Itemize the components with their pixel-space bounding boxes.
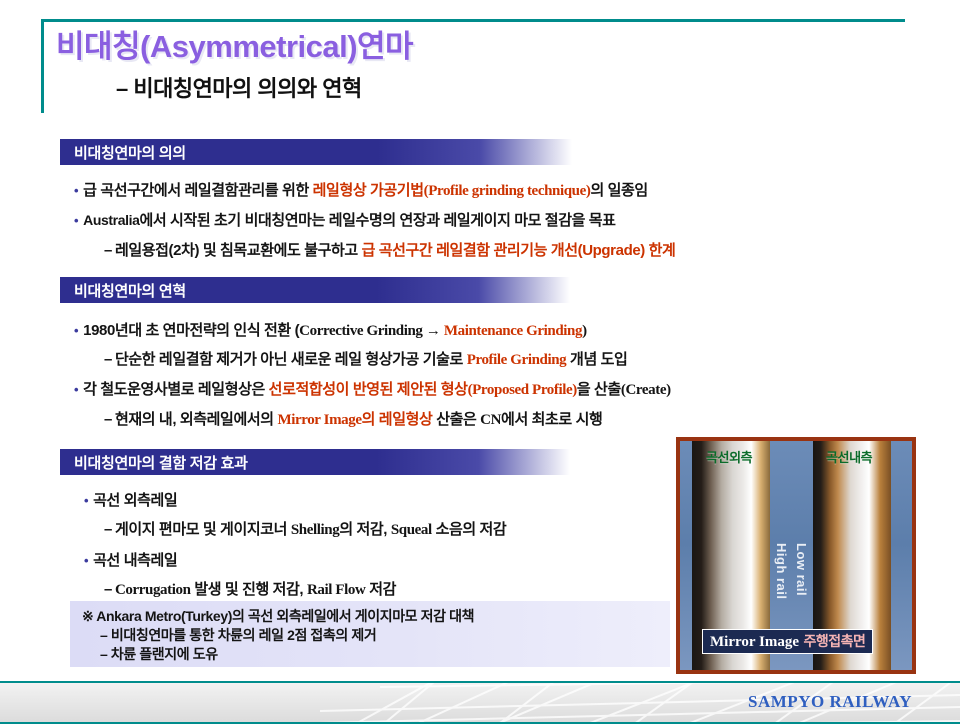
- mirror-image-caption-kr: 주행접촉면: [803, 633, 865, 649]
- text-run: (Profile grinding technique): [424, 183, 591, 199]
- note-box: ※ Ankara Metro(Turkey)의 곡선 외측레일에서 게이지마모 …: [70, 601, 670, 667]
- text-run: 초 연마전략의 인식 전환 (: [142, 322, 299, 339]
- text-run: Corrective Grinding: [299, 323, 422, 339]
- photo-label-low-rail: Low rail: [794, 543, 809, 596]
- text-run: Rail Flow: [307, 582, 365, 598]
- bullet-line: –현재의 내, 외측레일에서의 Mirror Image의 레일형상 산출은 C…: [104, 408, 602, 429]
- section-header-yeonhyeok: 비대칭연마의 연혁: [60, 277, 570, 303]
- section-header-label: 비대칭연마의 결함 저감 효과: [74, 452, 248, 473]
- text-run: 곡선 외측레일: [93, 492, 177, 509]
- photo-label-inner-curve: 곡선내측: [826, 447, 872, 466]
- dash-marker: –: [104, 581, 112, 598]
- title-block: 비대칭(Asymmetrical)연마 – 비대칭연마의 의의와 연혁: [56, 30, 876, 103]
- bullet-line: –레일용접(2차) 및 침목교환에도 불구하고 급 곡선구간 레일결함 관리기능…: [104, 239, 675, 260]
- text-run: (Create): [621, 382, 671, 398]
- text-run: 의 저감,: [339, 521, 391, 538]
- bullet-line: –Corrugation 발생 및 진행 저감, Rail Flow 저감: [104, 578, 396, 599]
- text-run: 발생 및 진행 저감,: [191, 581, 307, 598]
- text-run: 개념 도입: [566, 351, 627, 368]
- text-run: Mirror Image: [277, 412, 361, 428]
- text-run: 산출은: [432, 411, 480, 428]
- text-run: 급 곡선구간 레일결함 관리기능 개선(Upgrade) 한계: [362, 242, 676, 259]
- rail-photo-background: 곡선외측 곡선내측 High rail Low rail Mirror Imag…: [680, 441, 912, 670]
- text-run: 1980년대: [83, 322, 142, 339]
- note-line-1: ※ Ankara Metro(Turkey)의 곡선 외측레일에서 게이지마모 …: [82, 607, 670, 626]
- section-header-effect: 비대칭연마의 결함 저감 효과: [60, 449, 570, 475]
- text-run: 각 철도운영사별로 레일형상은: [83, 381, 269, 398]
- section-header-uiui: 비대칭연마의 의의: [60, 139, 572, 165]
- bullet-line: •각 철도운영사별로 레일형상은 선로적합성이 반영된 제안된 형상(Propo…: [74, 378, 671, 399]
- text-run: Corrugation: [115, 582, 191, 598]
- text-run: Profile Grinding: [467, 352, 567, 368]
- brand-label: SAMPYO RAILWAY: [748, 692, 912, 712]
- bullet-marker: •: [84, 553, 88, 568]
- bullet-marker: •: [74, 382, 78, 397]
- text-run: Squeal: [391, 522, 432, 538]
- title-left-rule: [41, 19, 44, 113]
- bullet-line: •곡선 내측레일: [84, 549, 177, 570]
- slide-footer: SAMPYO RAILWAY: [0, 681, 960, 724]
- text-run: 레일형상 가공기법: [313, 182, 424, 199]
- text-run: 현재의 내, 외측레일에서의: [115, 411, 277, 428]
- photo-label-outer-curve: 곡선외측: [706, 447, 752, 466]
- text-run: CN: [480, 412, 501, 428]
- text-run: 게이지 편마모 및 게이지코너: [115, 521, 291, 538]
- bullet-line: •1980년대 초 연마전략의 인식 전환 (Corrective Grindi…: [74, 319, 587, 340]
- text-run: Maintenance Grinding: [444, 323, 582, 339]
- bullet-marker: •: [84, 493, 88, 508]
- text-run: 저감: [365, 581, 396, 598]
- text-run: Shelling: [291, 522, 340, 538]
- text-run: →: [423, 323, 444, 339]
- text-run: 의 일종임: [590, 182, 647, 199]
- page-subtitle: – 비대칭연마의 의의와 연혁: [116, 71, 876, 103]
- text-run: ): [582, 323, 587, 339]
- mirror-image-caption-en: Mirror Image: [710, 634, 799, 650]
- bullet-marker: •: [74, 213, 78, 228]
- dash-marker: –: [104, 411, 112, 428]
- bullet-marker: •: [74, 183, 78, 198]
- dash-marker: –: [104, 351, 112, 368]
- bullet-marker: •: [74, 323, 78, 338]
- dash-marker: –: [104, 521, 112, 538]
- bullet-line: •급 곡선구간에서 레일결함관리를 위한 레일형상 가공기법(Profile g…: [74, 179, 648, 200]
- text-run: 단순한 레일결함 제거가 아닌 새로운 레일 형상가공 기술로: [115, 351, 467, 368]
- page-title: 비대칭(Asymmetrical)연마: [56, 30, 876, 64]
- text-run: 소음의 저감: [432, 521, 507, 538]
- text-run: (Proposed Profile): [468, 382, 577, 398]
- section-header-label: 비대칭연마의 의의: [74, 142, 186, 163]
- text-run: 에서 시작된 초기 비대칭연마는 레일수명의 연장과 레일게이지 마모 절감을 …: [139, 212, 615, 229]
- text-run: 급 곡선구간에서 레일결함관리를 위한: [83, 182, 312, 199]
- rail-photo-panel: 곡선외측 곡선내측 High rail Low rail Mirror Imag…: [676, 437, 916, 674]
- text-run: 선로적합성이 반영된 제안된 형상: [269, 381, 468, 398]
- dash-marker: –: [104, 242, 112, 259]
- note-line-3: – 차륜 플랜지에 도유: [82, 645, 670, 664]
- text-run: 레일용접(2차) 및 침목교환에도 불구하고: [115, 242, 362, 259]
- bullet-line: –게이지 편마모 및 게이지코너 Shelling의 저감, Squeal 소음…: [104, 518, 506, 539]
- photo-label-high-rail: High rail: [774, 543, 789, 600]
- text-run: 곡선 내측레일: [93, 552, 177, 569]
- note-line-2: – 비대칭연마를 통한 차륜의 레일 2점 접촉의 제거: [82, 626, 670, 645]
- bullet-line: •Australia에서 시작된 초기 비대칭연마는 레일수명의 연장과 레일게…: [74, 209, 616, 230]
- text-run: 의 레일형상: [362, 411, 433, 428]
- text-run: 을 산출: [577, 381, 621, 398]
- text-run: 에서 최초로 시행: [501, 411, 602, 428]
- text-run: Australia: [83, 212, 139, 228]
- bullet-line: •곡선 외측레일: [84, 489, 177, 510]
- section-header-label: 비대칭연마의 연혁: [74, 280, 186, 301]
- title-top-rule: [41, 19, 905, 22]
- mirror-image-caption: Mirror Image 주행접촉면: [702, 629, 873, 654]
- bullet-line: –단순한 레일결함 제거가 아닌 새로운 레일 형상가공 기술로 Profile…: [104, 348, 627, 369]
